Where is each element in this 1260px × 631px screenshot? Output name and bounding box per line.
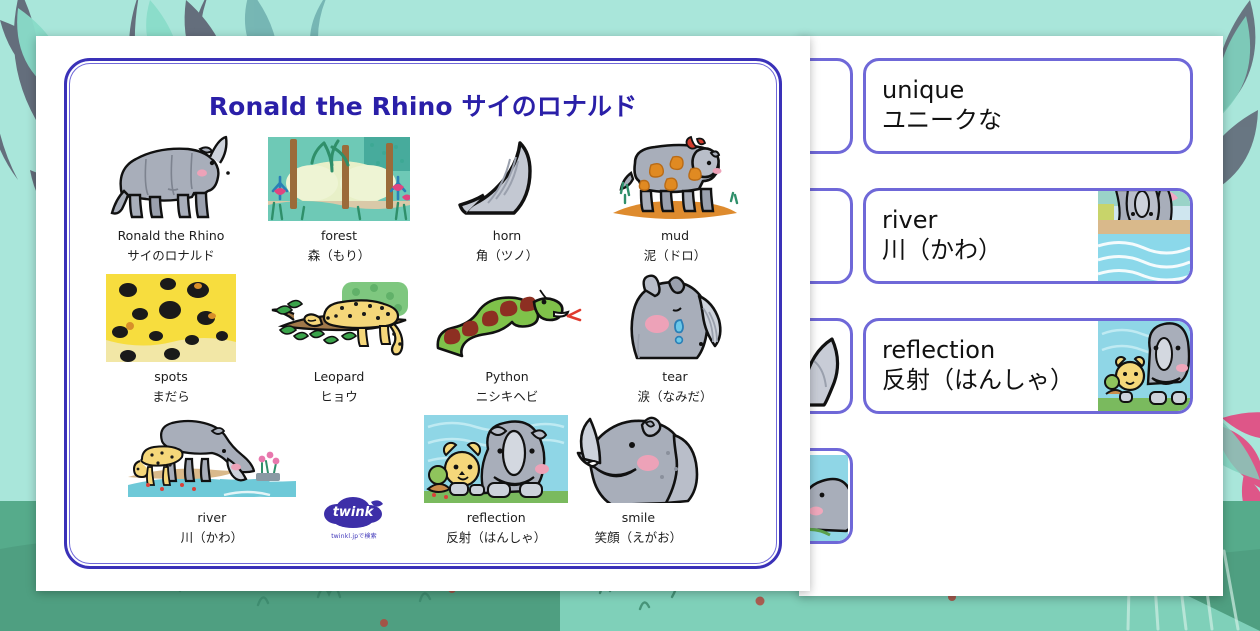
vocabulary-grid: Ronald the Rhino サイのロナルド bbox=[87, 133, 759, 546]
flashcard-reflection-ja: 反射（はんしゃ） bbox=[882, 366, 1098, 395]
vocab-item-horn[interactable]: horn 角（ツノ） bbox=[423, 133, 591, 264]
vocab-ja: 川（かわ） bbox=[181, 527, 244, 546]
vocab-en: tear bbox=[662, 369, 687, 384]
river-illustration bbox=[128, 415, 296, 503]
vocab-item-reflection[interactable]: reflection 反射（はんしゃ） bbox=[425, 415, 567, 546]
vocab-item-forest[interactable]: forest 森（もり） bbox=[255, 133, 423, 264]
worksheet-frame: Ronald the Rhino サイのロナルド bbox=[64, 58, 782, 569]
spots-illustration bbox=[106, 274, 236, 362]
flashcard-unique[interactable]: unique ユニークな bbox=[863, 58, 1193, 154]
page-title: Ronald the Rhino サイのロナルド bbox=[67, 87, 779, 123]
svg-text:twink: twink bbox=[333, 505, 375, 520]
twinkl-logo[interactable]: twink twinkl.jpで検索 bbox=[283, 415, 425, 546]
vocab-item-tear[interactable]: tear 涙（なみだ） bbox=[591, 274, 759, 405]
vocab-ja: ヒョウ bbox=[320, 386, 358, 405]
flashcard-reflection-en: reflection bbox=[882, 337, 1098, 365]
vocab-en: Ronald the Rhino bbox=[118, 228, 225, 243]
vocab-en: forest bbox=[321, 228, 357, 243]
leopard-illustration bbox=[264, 274, 414, 362]
flashcard-reflection-text: reflection 反射（はんしゃ） bbox=[866, 337, 1098, 395]
vocab-en: smile bbox=[622, 510, 655, 525]
vocab-ja: ニシキヘビ bbox=[476, 386, 539, 405]
vocab-en: mud bbox=[661, 228, 689, 243]
smile-rhino-illustration bbox=[570, 415, 706, 503]
vocab-item-river[interactable]: river 川（かわ） bbox=[141, 415, 283, 546]
vocab-en: Python bbox=[485, 369, 528, 384]
vocab-en: horn bbox=[493, 228, 521, 243]
flashcard-reflection[interactable]: reflection 反射（はんしゃ） bbox=[863, 318, 1193, 414]
vocab-row-2: spots まだら bbox=[87, 274, 759, 405]
flashcard-river[interactable]: river 川（かわ） bbox=[863, 188, 1193, 284]
horn-illustration bbox=[452, 133, 562, 221]
flashcard-river-en: river bbox=[882, 207, 1098, 235]
vocab-ja: 笑顔（えがお） bbox=[595, 527, 683, 546]
vocab-ja: 角（ツノ） bbox=[476, 245, 539, 264]
vocab-row-3: river 川（かわ） twink twinkl.j bbox=[87, 415, 759, 546]
vocab-ja: サイのロナルド bbox=[127, 245, 215, 264]
reflection-image bbox=[1098, 320, 1190, 412]
vocab-row-1: Ronald the Rhino サイのロナルド bbox=[87, 133, 759, 264]
python-illustration bbox=[432, 274, 582, 362]
vocab-item-ronald-the-rhino[interactable]: Ronald the Rhino サイのロナルド bbox=[87, 133, 255, 264]
vocab-ja: 泥（ドロ） bbox=[644, 245, 707, 264]
vocab-en: reflection bbox=[467, 510, 526, 525]
vocab-item-spots[interactable]: spots まだら bbox=[87, 274, 255, 405]
vocab-item-python[interactable]: Python ニシキヘビ bbox=[423, 274, 591, 405]
vocab-ja: 反射（はんしゃ） bbox=[446, 527, 546, 546]
tear-rhino-illustration bbox=[615, 274, 735, 362]
vocab-ja: 森（もり） bbox=[308, 245, 371, 264]
vocab-en: river bbox=[197, 510, 226, 525]
flashcard-unique-text: unique ユニークな bbox=[866, 77, 1190, 135]
river-legs-image bbox=[1098, 190, 1190, 282]
flashcard-unique-ja: ユニークな bbox=[882, 106, 1190, 135]
vocab-item-smile[interactable]: smile 笑顔（えがお） bbox=[567, 415, 709, 546]
twinkl-subtext: twinkl.jpで検索 bbox=[331, 531, 377, 540]
flashcard-unique-en: unique bbox=[882, 77, 1190, 105]
vocab-en: spots bbox=[154, 369, 188, 384]
flashcard-river-text: river 川（かわ） bbox=[866, 207, 1098, 265]
twinkl-cloud-icon: twink bbox=[323, 496, 385, 530]
vocab-item-leopard[interactable]: Leopard ヒョウ bbox=[255, 274, 423, 405]
mud-rhino-illustration bbox=[605, 133, 745, 221]
vocab-en: Leopard bbox=[314, 369, 365, 384]
reflection-illustration bbox=[424, 415, 568, 503]
forest-illustration bbox=[268, 133, 410, 221]
flashcard-river-ja: 川（かわ） bbox=[882, 236, 1098, 265]
vocab-ja: 涙（なみだ） bbox=[637, 386, 712, 405]
worksheet-page: Ronald the Rhino サイのロナルド bbox=[36, 36, 810, 591]
rhino-illustration bbox=[106, 133, 236, 221]
vocab-item-mud[interactable]: mud 泥（ドロ） bbox=[591, 133, 759, 264]
flashcard-page: unique ユニークな river 川（かわ） bbox=[799, 36, 1223, 596]
vocab-ja: まだら bbox=[152, 386, 190, 405]
